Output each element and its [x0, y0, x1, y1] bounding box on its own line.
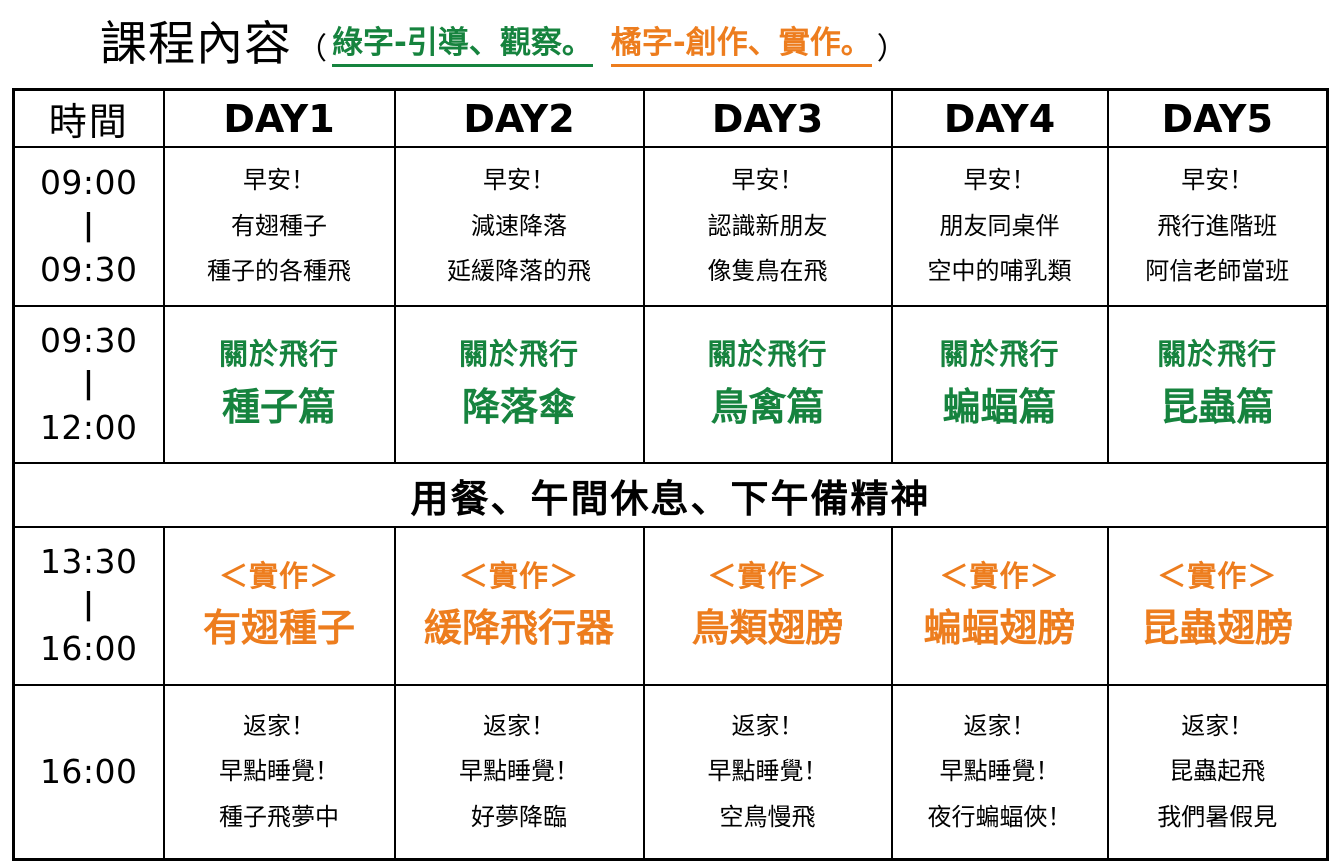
cell-main: 鳥禽篇 — [645, 379, 891, 436]
cell-day4: 關於飛行 蝙蝠篇 — [892, 306, 1108, 463]
cell-main: 昆蟲篇 — [1109, 379, 1327, 436]
page-title-text: 課程內容 — [100, 21, 292, 68]
cell-line: 早安！ — [396, 158, 643, 204]
cell-tag: 關於飛行 — [645, 333, 891, 379]
cell-day4: 返家！ 早點睡覺！ 夜行蝙蝠俠！ — [892, 685, 1108, 860]
cell-day5: 返家！ 昆蟲起飛 我們暑假見 — [1108, 685, 1328, 860]
legend-green: 綠字-引導、觀察。 — [332, 28, 593, 67]
cell-line: 早安！ — [1109, 158, 1327, 204]
time-cell: 09:30 | 12:00 — [14, 306, 164, 463]
cell-day3: 早安！ 認識新朋友 像隻鳥在飛 — [644, 147, 892, 306]
time-end: 12:00 — [40, 408, 138, 447]
table-row: 16:00 返家！ 早點睡覺！ 種子飛夢中 返家！ 早點睡覺！ 好夢降臨 返家！… — [14, 685, 1328, 860]
header-day3: DAY3 — [644, 90, 892, 148]
cell-line: 夜行蝙蝠俠！ — [893, 795, 1107, 841]
table-row: 13:30 | 16:00 ＜實作＞ 有翅種子 ＜實作＞ 緩降飛行器 ＜實作＞ … — [14, 527, 1328, 685]
table-row-lunch: 用餐、午間休息、下午備精神 — [14, 463, 1328, 527]
cell-line: 返家！ — [165, 704, 394, 750]
cell-day2: 關於飛行 降落傘 — [395, 306, 644, 463]
cell-line: 早點睡覺！ — [645, 749, 891, 795]
cell-line: 像隻鳥在飛 — [645, 249, 891, 295]
cell-main: 種子篇 — [165, 379, 394, 436]
cell-main: 蝙蝠翅膀 — [893, 600, 1107, 657]
cell-line: 早點睡覺！ — [396, 749, 643, 795]
cell-tag: 關於飛行 — [396, 333, 643, 379]
cell-main: 降落傘 — [396, 379, 643, 436]
cell-line: 早點睡覺！ — [165, 749, 394, 795]
cell-line: 飛行進階班 — [1109, 204, 1327, 250]
cell-day1: 早安！ 有翅種子 種子的各種飛 — [164, 147, 395, 306]
cell-tag: ＜實作＞ — [165, 555, 394, 601]
table-row: 09:00 | 09:30 早安！ 有翅種子 種子的各種飛 早安！ 減速降落 延… — [14, 147, 1328, 306]
cell-day4: ＜實作＞ 蝙蝠翅膀 — [892, 527, 1108, 685]
legend-orange: 橘字-創作、實作。 — [611, 28, 872, 67]
cell-line: 返家！ — [1109, 704, 1327, 750]
time-end: 16:00 — [40, 629, 138, 668]
cell-main: 鳥類翅膀 — [645, 600, 891, 657]
schedule-table-wrapper: 時間 DAY1 DAY2 DAY3 DAY4 DAY5 09:00 | 09:3… — [0, 88, 1338, 861]
cell-main: 緩降飛行器 — [396, 600, 643, 657]
cell-line: 返家！ — [893, 704, 1107, 750]
cell-line: 減速降落 — [396, 204, 643, 250]
cell-line: 種子的各種飛 — [165, 249, 394, 295]
cell-line: 早安！ — [165, 158, 394, 204]
cell-day3: 關於飛行 鳥禽篇 — [644, 306, 892, 463]
time-end: 09:30 — [40, 250, 138, 289]
page-title: 課程內容 （ 綠字-引導、觀察。 橘字-創作、實作。 ） — [0, 0, 1338, 88]
cell-line: 空鳥慢飛 — [645, 795, 891, 841]
cell-day5: ＜實作＞ 昆蟲翅膀 — [1108, 527, 1328, 685]
cell-day1: 返家！ 早點睡覺！ 種子飛夢中 — [164, 685, 395, 860]
time-start: 09:30 — [40, 321, 138, 360]
cell-main: 蝙蝠篇 — [893, 379, 1107, 436]
table-row: 09:30 | 12:00 關於飛行 種子篇 關於飛行 降落傘 關於飛行 鳥禽篇 — [14, 306, 1328, 463]
cell-tag: ＜實作＞ — [645, 555, 891, 601]
cell-line: 空中的哺乳類 — [893, 249, 1107, 295]
cell-day3: ＜實作＞ 鳥類翅膀 — [644, 527, 892, 685]
cell-line: 早點睡覺！ — [893, 749, 1107, 795]
cell-day4: 早安！ 朋友同桌伴 空中的哺乳類 — [892, 147, 1108, 306]
paren-open: （ — [292, 24, 332, 68]
schedule-table: 時間 DAY1 DAY2 DAY3 DAY4 DAY5 09:00 | 09:3… — [12, 88, 1329, 861]
cell-line: 返家！ — [645, 704, 891, 750]
cell-day5: 關於飛行 昆蟲篇 — [1108, 306, 1328, 463]
cell-line: 種子飛夢中 — [165, 795, 394, 841]
time-separator: | — [15, 207, 163, 247]
time-cell: 09:00 | 09:30 — [14, 147, 164, 306]
time-cell: 13:30 | 16:00 — [14, 527, 164, 685]
cell-day3: 返家！ 早點睡覺！ 空鳥慢飛 — [644, 685, 892, 860]
cell-tag: ＜實作＞ — [893, 555, 1107, 601]
cell-day1: ＜實作＞ 有翅種子 — [164, 527, 395, 685]
cell-line: 返家！ — [396, 704, 643, 750]
cell-line: 認識新朋友 — [645, 204, 891, 250]
cell-line: 昆蟲起飛 — [1109, 749, 1327, 795]
cell-line: 我們暑假見 — [1109, 795, 1327, 841]
cell-line: 好夢降臨 — [396, 795, 643, 841]
cell-tag: ＜實作＞ — [396, 555, 643, 601]
cell-main: 有翅種子 — [165, 600, 394, 657]
cell-line: 早安！ — [645, 158, 891, 204]
cell-day2: ＜實作＞ 緩降飛行器 — [395, 527, 644, 685]
lunch-break-label: 用餐、午間休息、下午備精神 — [14, 463, 1328, 527]
header-day5: DAY5 — [1108, 90, 1328, 148]
time-separator: | — [15, 365, 163, 405]
time-cell: 16:00 — [14, 685, 164, 860]
cell-line: 延緩降落的飛 — [396, 249, 643, 295]
cell-tag: ＜實作＞ — [1109, 555, 1327, 601]
time-start: 16:00 — [40, 752, 138, 791]
header-day2: DAY2 — [395, 90, 644, 148]
time-start: 09:00 — [40, 163, 138, 202]
time-start: 13:30 — [40, 542, 138, 581]
header-time: 時間 — [14, 90, 164, 148]
cell-tag: 關於飛行 — [165, 333, 394, 379]
cell-day2: 返家！ 早點睡覺！ 好夢降臨 — [395, 685, 644, 860]
cell-day5: 早安！ 飛行進階班 阿信老師當班 — [1108, 147, 1328, 306]
time-separator: | — [15, 586, 163, 626]
cell-line: 朋友同桌伴 — [893, 204, 1107, 250]
cell-day2: 早安！ 減速降落 延緩降落的飛 — [395, 147, 644, 306]
header-day1: DAY1 — [164, 90, 395, 148]
paren-close: ） — [872, 24, 912, 68]
cell-line: 早安！ — [893, 158, 1107, 204]
cell-day1: 關於飛行 種子篇 — [164, 306, 395, 463]
cell-main: 昆蟲翅膀 — [1109, 600, 1327, 657]
table-header-row: 時間 DAY1 DAY2 DAY3 DAY4 DAY5 — [14, 90, 1328, 148]
cell-tag: 關於飛行 — [1109, 333, 1327, 379]
cell-line: 阿信老師當班 — [1109, 249, 1327, 295]
cell-line: 有翅種子 — [165, 204, 394, 250]
header-day4: DAY4 — [892, 90, 1108, 148]
cell-tag: 關於飛行 — [893, 333, 1107, 379]
